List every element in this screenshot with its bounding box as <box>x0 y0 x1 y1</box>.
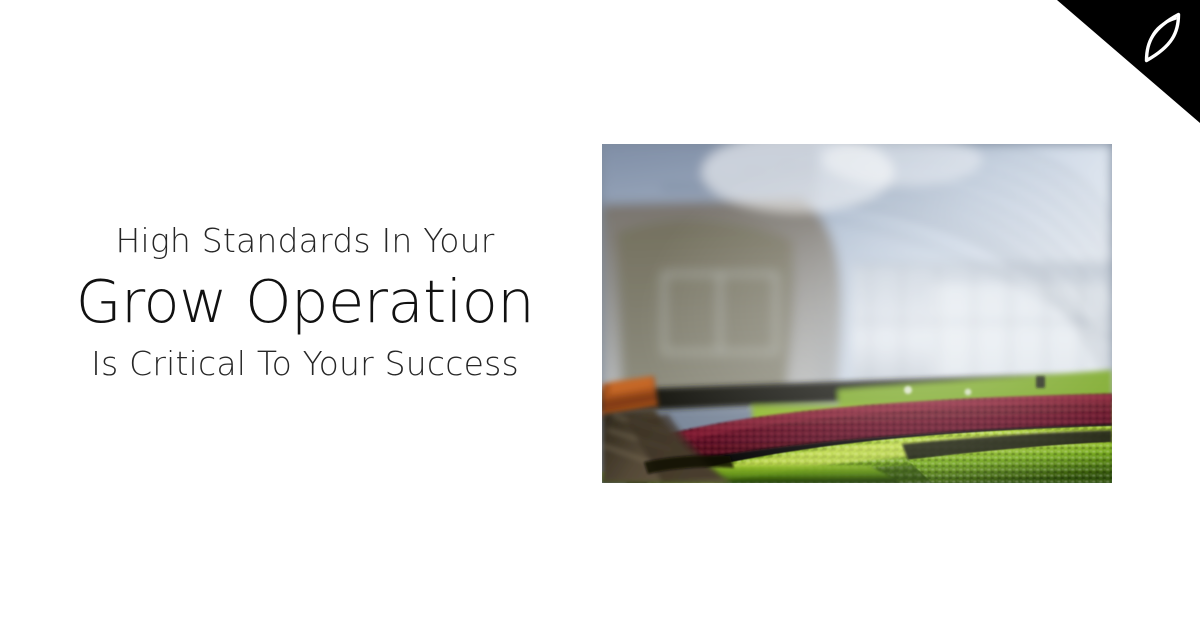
headline-main: Grow Operation <box>0 264 610 340</box>
hero-photo <box>602 144 1112 483</box>
headline-block: High Standards In Your Grow Operation Is… <box>0 218 610 388</box>
brand-logo[interactable] <box>1134 8 1188 68</box>
headline-eyebrow: High Standards In Your <box>0 218 610 264</box>
banner-canvas: High Standards In Your Grow Operation Is… <box>0 0 1200 630</box>
headline-kicker: Is Critical To Your Success <box>0 340 610 388</box>
